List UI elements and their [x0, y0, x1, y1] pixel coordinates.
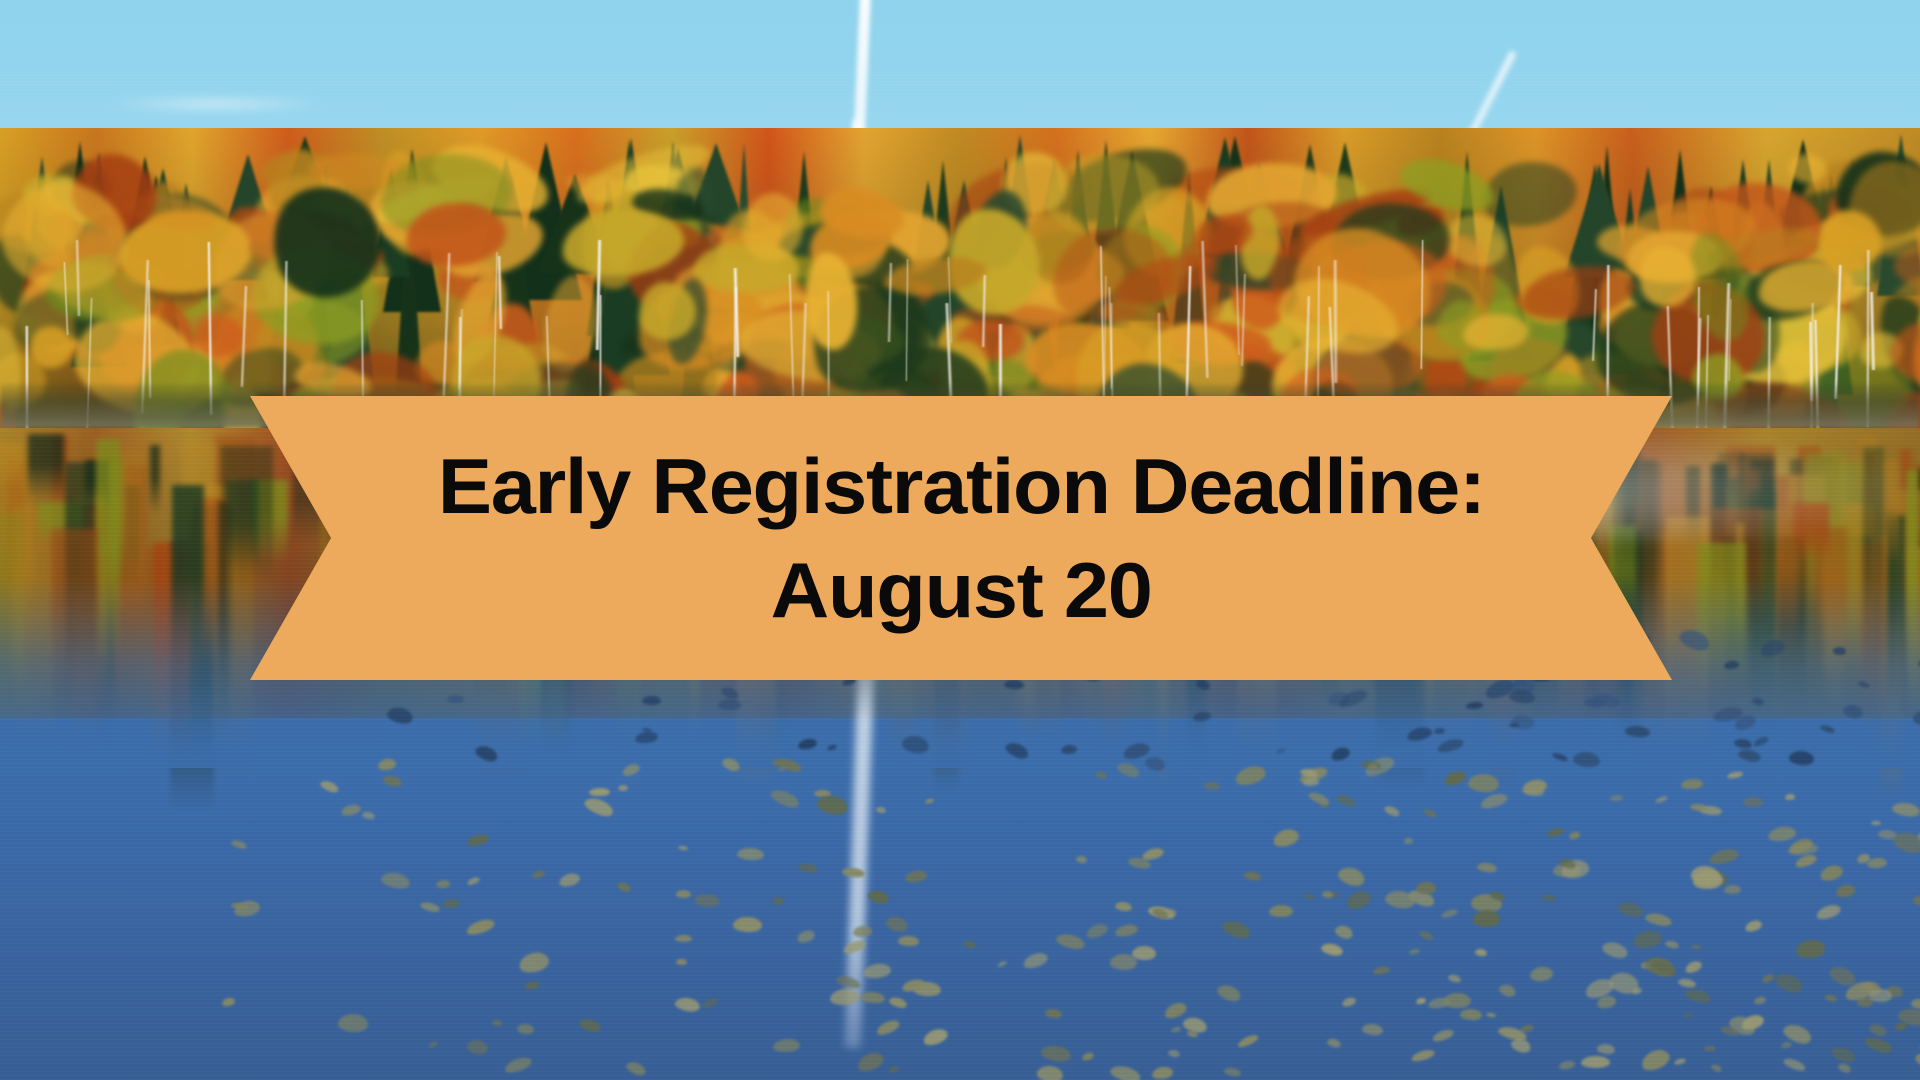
birch-trunk — [1333, 260, 1338, 383]
cloud-wisp — [100, 96, 330, 112]
forest-treeline — [0, 128, 1920, 428]
banner-headline: Early Registration Deadline: — [438, 447, 1485, 525]
scene-canvas: Early Registration Deadline: August 20 — [0, 0, 1920, 1080]
banner-date: August 20 — [771, 551, 1152, 629]
birch-trunk — [1606, 265, 1610, 403]
deadline-banner: Early Registration Deadline: August 20 — [250, 396, 1672, 680]
